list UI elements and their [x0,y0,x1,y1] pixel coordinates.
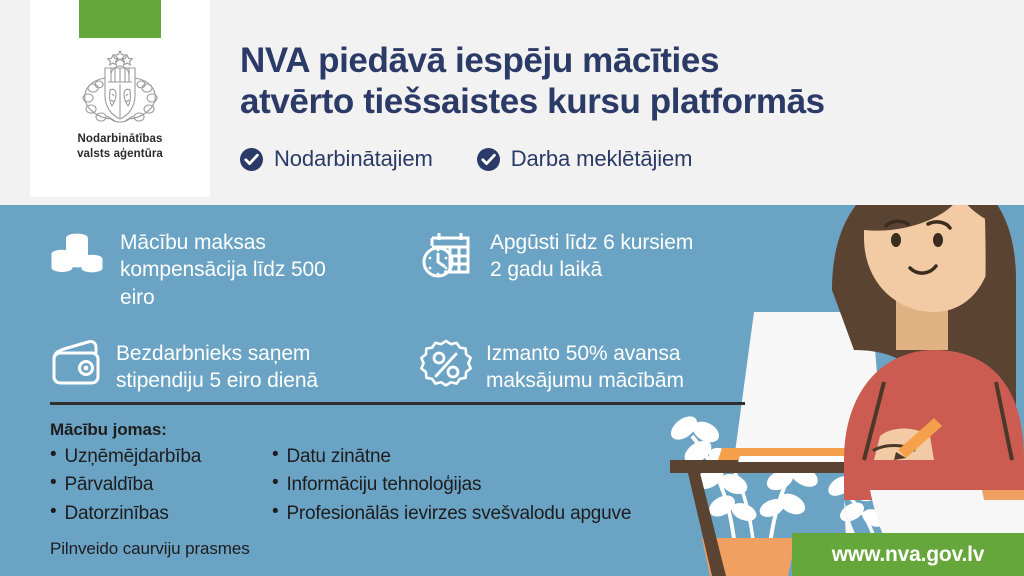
study-field-label: Datorzinības [64,501,168,526]
study-field-label: Informāciju tehnoloģijas [286,472,481,497]
study-fields-column-right: • Datu zinātne • Informāciju tehnoloģija… [272,444,631,526]
headline-line-1: NVA piedāvā iespēju mācīties [240,40,1000,81]
headline-line-2: atvērto tiešsaistes kursu platformās [240,81,1000,122]
study-fields-columns: • Uzņēmējdarbība • Pārvaldība • Datorzin… [50,444,750,526]
benefit-tuition-line1: Mācību maksas [120,231,266,254]
website-url-banner[interactable]: www.nva.gov.lv [792,533,1024,576]
calendar-clock-icon [420,228,474,282]
section-divider [50,402,745,405]
list-item: • Pārvaldība [50,472,250,497]
benefit-text-tuition: Mācību maksas kompensācija līdz 500 eiro [120,226,326,311]
study-fields-section: Mācību jomas: • Uzņēmējdarbība • Pārvald… [50,420,750,559]
audience-label-employed: Nodarbinātajiem [274,146,433,172]
benefit-daily-stipend: Bezdarbnieks saņem stipendiju 5 eiro die… [50,337,420,395]
study-fields-title: Mācību jomas: [50,420,750,440]
logo-caption: Nodarbinātības valsts aģentūra [77,132,163,161]
audience-list: Nodarbinātajiem Darba meklētājiem [240,146,692,172]
bullet-icon: • [272,444,278,469]
list-item: • Uzņēmējdarbība [50,444,250,469]
audience-item-jobseekers: Darba meklētājiem [477,146,693,172]
bullet-icon: • [50,444,56,469]
benefit-advance-line1: Izmanto 50% avansa [486,342,680,365]
latvian-coat-of-arms-icon [77,48,163,126]
nva-logo-card: Nodarbinātības valsts aģentūra [30,0,210,197]
list-item: • Informāciju tehnoloģijas [272,472,631,497]
infographic-poster: Nodarbinātības valsts aģentūra NVA piedā… [0,0,1024,576]
benefit-advance-payment: Izmanto 50% avansa maksājumu mācībām [420,337,750,395]
study-field-label: Profesionālās ievirzes svešvalodu apguve [286,501,631,526]
audience-item-employed: Nodarbinātajiem [240,146,433,172]
benefit-stipend-line1: Bezdarbnieks saņem [116,342,310,365]
benefits-grid: Mācību maksas kompensācija līdz 500 eiro [50,226,750,394]
benefit-advance-line2: maksājumu mācībām [486,369,684,392]
list-item: • Profesionālās ievirzes svešvalodu apgu… [272,501,631,526]
wallet-icon [50,339,100,389]
bullet-icon: • [50,501,56,526]
benefit-text-advance: Izmanto 50% avansa maksājumu mācībām [486,337,684,395]
benefit-text-stipend: Bezdarbnieks saņem stipendiju 5 eiro die… [116,337,318,395]
website-url-text: www.nva.gov.lv [832,543,984,567]
study-field-label: Pārvaldība [64,472,153,497]
benefit-six-courses: Apgūsti līdz 6 kursiem 2 gadu laikā [420,226,750,311]
benefit-stipend-line2: stipendiju 5 eiro dienā [116,369,318,392]
benefit-courses-line2: 2 gadu laikā [490,258,602,281]
logo-caption-line2: valsts aģentūra [77,147,163,162]
check-circle-icon [240,148,263,171]
percent-badge-icon [420,339,470,389]
benefit-text-courses: Apgūsti līdz 6 kursiem 2 gadu laikā [490,226,693,284]
list-item: • Datu zinātne [272,444,631,469]
benefit-tuition-compensation: Mācību maksas kompensācija līdz 500 eiro [50,226,420,311]
check-circle-icon [477,148,500,171]
study-field-label: Datu zinātne [286,444,390,469]
logo-green-block [79,0,161,38]
coins-icon [50,228,104,282]
bullet-icon: • [272,501,278,526]
audience-label-jobseekers: Darba meklētājiem [511,146,693,172]
study-fields-column-left: • Uzņēmējdarbība • Pārvaldība • Datorzin… [50,444,250,526]
list-item: • Datorzinības [50,501,250,526]
bullet-icon: • [50,472,56,497]
benefit-tuition-line3: eiro [120,286,155,309]
bullet-icon: • [272,472,278,497]
page-title: NVA piedāvā iespēju mācīties atvērto tie… [240,40,1000,123]
benefit-tuition-line2: kompensācija līdz 500 [120,258,326,281]
benefit-courses-line1: Apgūsti līdz 6 kursiem [490,231,693,254]
study-fields-footer-note: Pilnveido caurviju prasmes [50,539,750,559]
study-field-label: Uzņēmējdarbība [64,444,201,469]
logo-caption-line1: Nodarbinātības [77,132,163,147]
